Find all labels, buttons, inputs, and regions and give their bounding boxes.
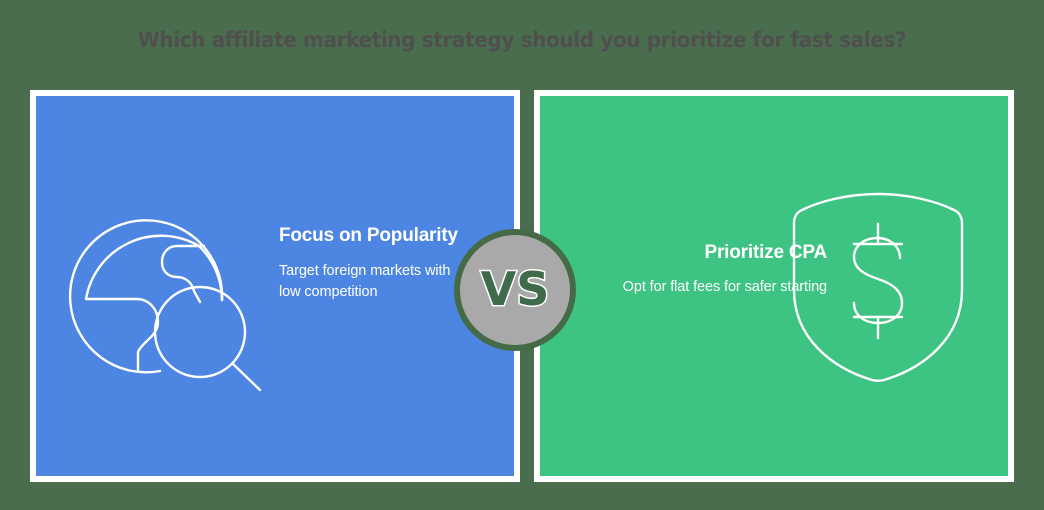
comparison-panel-left[interactable]: Focus on Popularity Target foreign marke… [30, 90, 520, 482]
comparison-panel-right[interactable]: Prioritize CPA Opt for flat fees for saf… [534, 90, 1014, 482]
shield-dollar-icon [788, 186, 968, 386]
left-panel-heading: Focus on Popularity [279, 224, 469, 248]
page-title: Which affiliate marketing strategy shoul… [37, 28, 1008, 53]
vs-badge: VS [454, 229, 576, 351]
left-panel-text: Focus on Popularity Target foreign marke… [279, 224, 469, 302]
globe-search-icon [64, 192, 272, 392]
vs-label: VS [481, 266, 550, 312]
left-panel-body: Target foreign markets with low competit… [279, 261, 469, 302]
